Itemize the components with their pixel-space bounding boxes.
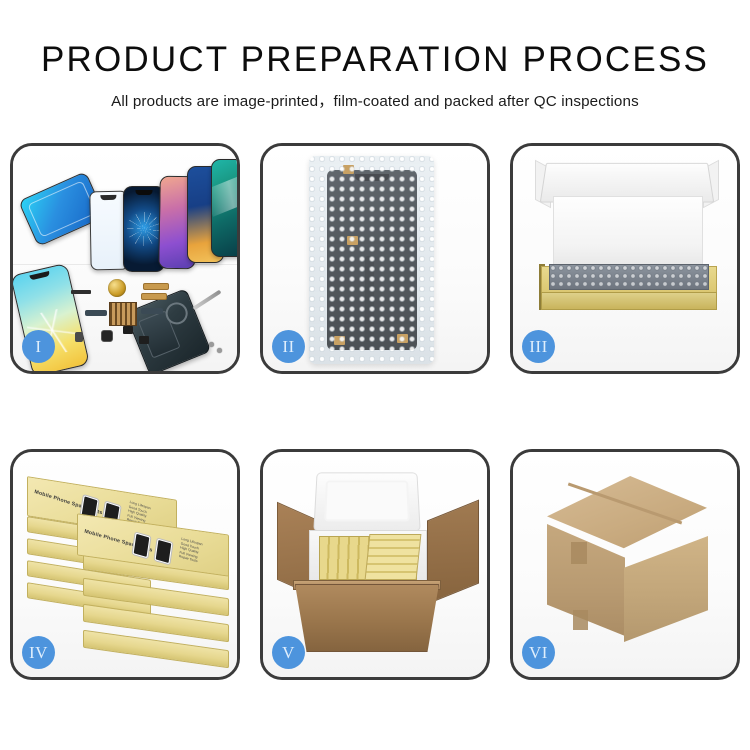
flex-cable-part-2-icon [141, 293, 167, 300]
yellow-boxes-contents-2-icon [365, 534, 422, 580]
header: PRODUCT PREPARATION PROCESS All products… [0, 0, 750, 111]
connector-grid-part-icon [109, 302, 137, 326]
ribbon-cable-part-2-icon [141, 308, 163, 314]
tape-piece-2-icon [347, 236, 358, 245]
step-panel-5: V [260, 449, 490, 680]
tape-piece-4-icon [397, 334, 408, 343]
yellow-box-front-panel [541, 292, 717, 310]
tape-piece-3-icon [334, 336, 345, 345]
flex-cable-part-icon [143, 283, 169, 290]
display-flex-cable-icon [365, 256, 374, 342]
page-title: PRODUCT PREPARATION PROCESS [0, 40, 750, 80]
bubble-wrap-package-icon [309, 156, 434, 364]
step-4-image: Mobile Phone Spare Parts Long Lifespan G… [13, 452, 237, 677]
carton-tape-upper [571, 542, 587, 564]
tape-piece-icon [343, 165, 354, 174]
ic-chip-part-2-icon [139, 336, 149, 344]
step-badge-5: V [272, 636, 305, 669]
step-panel-2: II [260, 143, 490, 374]
box-phone-image-4 [155, 539, 173, 565]
step-panel-6: VI [510, 449, 740, 680]
earpiece-speaker-part-icon [71, 290, 91, 294]
step-badge-6: VI [522, 636, 555, 669]
process-steps-grid: I II [10, 143, 740, 680]
box-phone-image-3 [133, 533, 151, 559]
step-badge-1: I [22, 330, 55, 363]
bubble-wrapped-contents-icon [549, 264, 709, 290]
carton-right-face [624, 536, 708, 642]
step-2-image: II [263, 146, 487, 371]
step-3-image: III [513, 146, 737, 371]
step-badge-4: IV [22, 636, 55, 669]
foam-sheet-icon [553, 196, 703, 268]
carton-front-panel [295, 584, 439, 652]
styrofoam-lid-icon [313, 472, 420, 531]
step-panel-3: III [510, 143, 740, 374]
tweezer-tool-icon [192, 290, 221, 311]
camera-module-part-icon [101, 330, 113, 342]
ribbon-cable-part-icon [85, 310, 107, 316]
step-panel-4: Mobile Phone Spare Parts Long Lifespan G… [10, 449, 240, 680]
step-badge-3: III [522, 330, 555, 363]
sealed-carton-icon [525, 472, 727, 660]
step-panel-1: I [10, 143, 240, 374]
vibration-motor-part-icon [108, 279, 126, 297]
button-part-icon [75, 332, 83, 342]
ic-chip-part-icon [123, 326, 133, 334]
product-preparation-infographic: PRODUCT PREPARATION PROCESS All products… [0, 0, 750, 750]
screw-part-2-icon [217, 348, 222, 353]
page-subtitle: All products are image-printed，film-coat… [0, 89, 750, 111]
step-1-image: I [13, 146, 237, 371]
phone-display-teal-icon [211, 159, 240, 257]
step-badge-2: II [272, 330, 305, 363]
screw-part-icon [209, 342, 214, 347]
box-stack-icon: Mobile Phone Spare Parts Long Lifespan G… [25, 466, 231, 662]
wrapped-screen-icon [327, 170, 417, 350]
carton-tape-lower [573, 610, 588, 630]
step-6-image: VI [513, 452, 737, 677]
phone-chassis-icon [125, 288, 212, 374]
step-5-image: V [263, 452, 487, 677]
